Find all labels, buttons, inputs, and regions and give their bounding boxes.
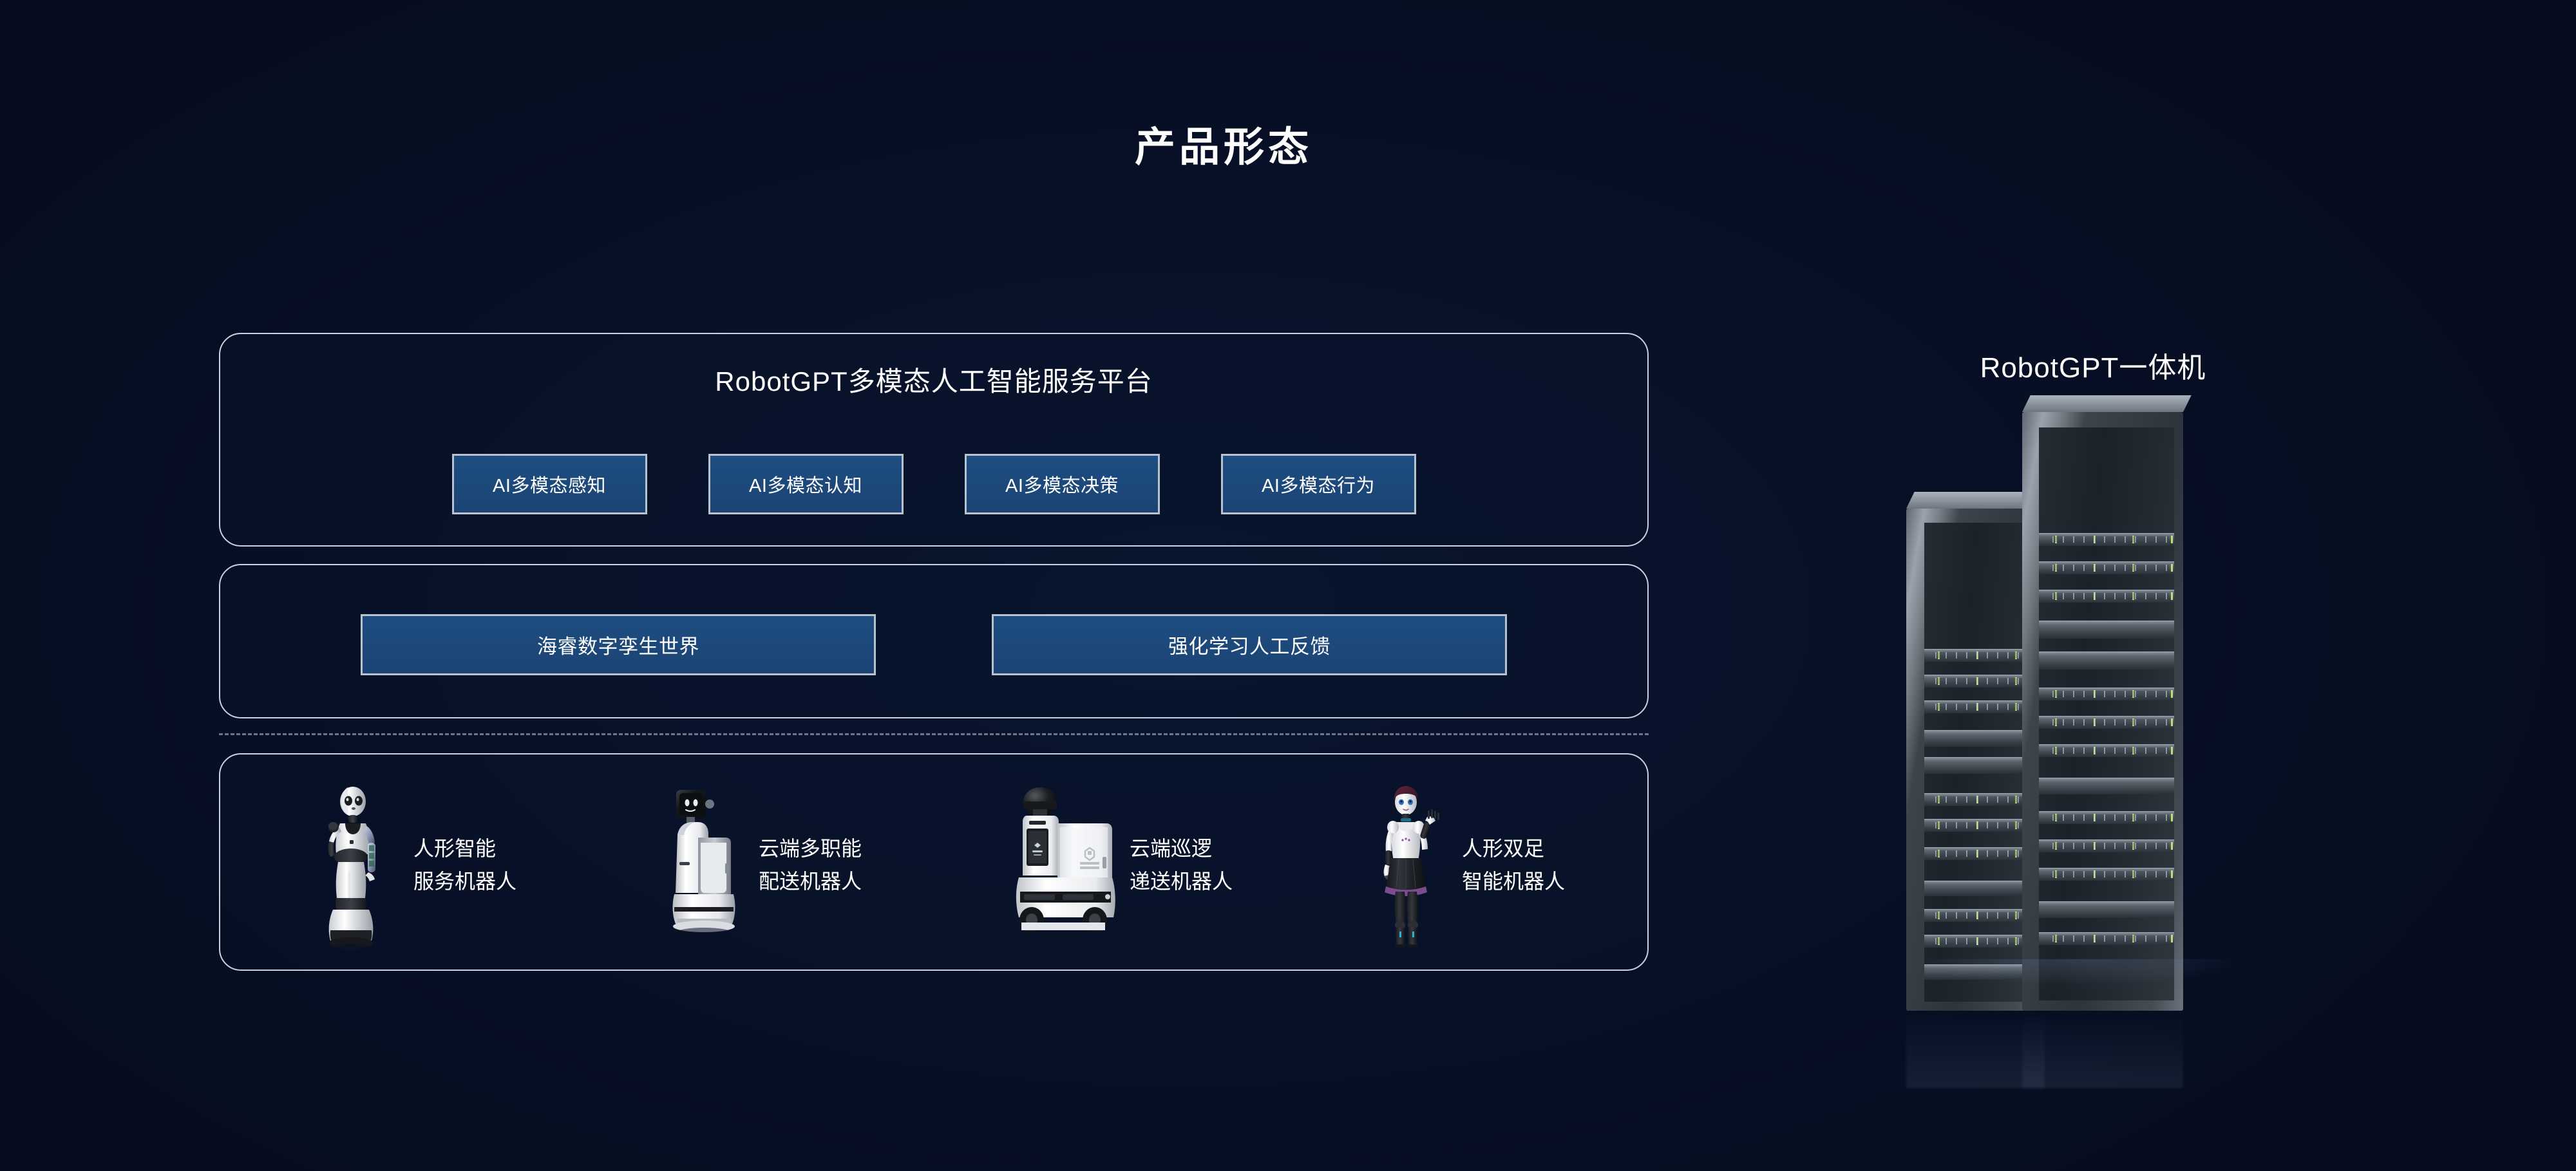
biped-humanoid-robot-icon [1364, 781, 1448, 950]
chip-label: AI多模态认知 [749, 471, 862, 498]
cloud-patrol-robot-icon [993, 781, 1115, 950]
robot-label-line1: 云端多职能 [759, 832, 862, 865]
chip-digital-twin-world[interactable]: 海睿数字孪生世界 [361, 614, 876, 675]
robot-label-line2: 服务机器人 [413, 865, 516, 898]
engine-panel: 海睿数字孪生世界 强化学习人工反馈 [219, 564, 1649, 718]
chip-label: AI多模态行为 [1262, 471, 1375, 498]
robot-label-line2: 配送机器人 [759, 865, 862, 898]
chip-ai-decision[interactable]: AI多模态决策 [965, 454, 1160, 514]
robot-card-biped-humanoid[interactable]: 人形双足 智能机器人 [1364, 781, 1565, 950]
robot-label-line2: 智能机器人 [1462, 865, 1565, 898]
chip-label: 海睿数字孪生世界 [537, 630, 699, 659]
slide-background: 产品形态 RobotGPT多模态人工智能服务平台 AI多模态感知 AI多模态认知… [0, 0, 2576, 1171]
chip-label: 强化学习人工反馈 [1168, 630, 1331, 659]
chip-ai-perception[interactable]: AI多模态感知 [452, 454, 647, 514]
engine-chip-row: 海睿数字孪生世界 强化学习人工反馈 [220, 614, 1647, 675]
robot-card-humanoid-service[interactable]: 人形智能 服务机器人 [303, 781, 516, 950]
robot-label-line1: 人形双足 [1462, 832, 1565, 865]
robot-card-label: 云端多职能 配送机器人 [759, 832, 862, 897]
cloud-delivery-robot-icon [648, 781, 744, 950]
robot-card-label: 人形双足 智能机器人 [1462, 832, 1565, 897]
robot-product-row: 人形智能 服务机器人 [265, 779, 1602, 951]
robot-card-cloud-patrol[interactable]: 云端巡逻 递送机器人 [993, 781, 1233, 950]
platform-panel: RobotGPT多模态人工智能服务平台 AI多模态感知 AI多模态认知 AI多模… [219, 333, 1649, 547]
robots-panel: 人形智能 服务机器人 [219, 753, 1649, 971]
page-title-text: 产品形态 [1135, 115, 1312, 173]
robot-card-cloud-delivery[interactable]: 云端多职能 配送机器人 [648, 781, 862, 950]
humanoid-service-robot-icon [303, 781, 399, 950]
robot-card-label: 云端巡逻 递送机器人 [1130, 832, 1233, 897]
ai-capability-chip-row: AI多模态感知 AI多模态认知 AI多模态决策 AI多模态行为 [220, 454, 1647, 514]
server-rack-icon [1906, 412, 2248, 1011]
chip-label: AI多模态感知 [493, 471, 606, 498]
section-divider [219, 733, 1649, 735]
robot-label-line1: 人形智能 [413, 832, 516, 865]
rack-glow [1880, 959, 2273, 1036]
platform-panel-title: RobotGPT多模态人工智能服务平台 [220, 360, 1647, 399]
robot-label-line2: 递送机器人 [1130, 865, 1233, 898]
chip-label: AI多模态决策 [1005, 471, 1119, 498]
robot-card-label: 人形智能 服务机器人 [413, 832, 516, 897]
chip-ai-cognition[interactable]: AI多模态认知 [708, 454, 904, 514]
server-rack-right [2022, 412, 2183, 1011]
robot-label-line1: 云端巡逻 [1130, 832, 1233, 865]
page-title: 产品形态 [0, 115, 2576, 173]
chip-rlhf[interactable]: 强化学习人工反馈 [992, 614, 1507, 675]
appliance-title: RobotGPT一体机 [1848, 344, 2338, 386]
chip-ai-behavior[interactable]: AI多模态行为 [1221, 454, 1416, 514]
